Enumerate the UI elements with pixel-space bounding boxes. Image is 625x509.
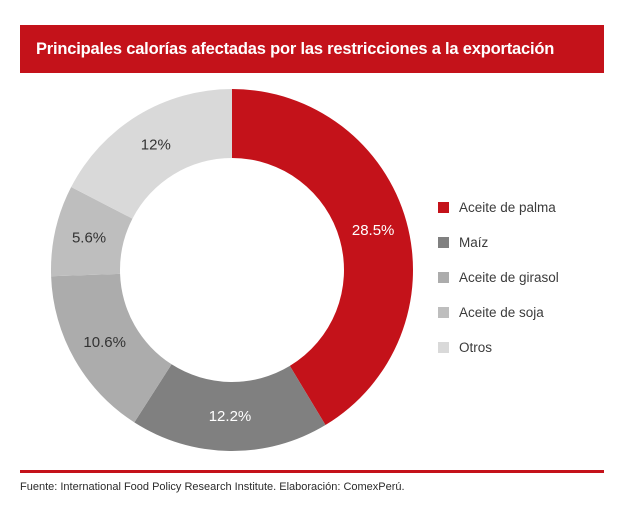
donut-slice-label: 28.5% <box>352 222 395 239</box>
legend: Aceite de palma Maíz Aceite de girasol A… <box>438 190 618 365</box>
donut-slice-label: 10.6% <box>83 334 126 351</box>
legend-swatch-icon <box>438 202 449 213</box>
legend-item-label: Aceite de girasol <box>459 270 559 285</box>
donut-slice-label: 5.6% <box>72 229 106 246</box>
donut-slice-label: 12.2% <box>209 408 252 425</box>
donut-chart-svg: 28.5%12.2%10.6%5.6%12% <box>0 76 430 456</box>
legend-swatch-icon <box>438 272 449 283</box>
donut-slices <box>51 89 413 451</box>
legend-swatch-icon <box>438 307 449 318</box>
legend-item-maiz[interactable]: Maíz <box>438 225 618 260</box>
donut-slice-label: 12% <box>141 136 171 153</box>
legend-swatch-icon <box>438 237 449 248</box>
donut-chart: 28.5%12.2%10.6%5.6%12% <box>0 76 430 456</box>
page-title: Principales calorías afectadas por las r… <box>20 40 554 59</box>
legend-item-aceite-de-palma[interactable]: Aceite de palma <box>438 190 618 225</box>
legend-swatch-icon <box>438 342 449 353</box>
footer-divider <box>20 470 604 473</box>
legend-item-label: Maíz <box>459 235 488 250</box>
source-note: Fuente: International Food Policy Resear… <box>20 481 405 493</box>
legend-item-aceite-de-girasol[interactable]: Aceite de girasol <box>438 260 618 295</box>
legend-item-label: Otros <box>459 340 492 355</box>
chart-page: Principales calorías afectadas por las r… <box>0 0 625 509</box>
legend-item-aceite-de-soja[interactable]: Aceite de soja <box>438 295 618 330</box>
donut-slice[interactable] <box>232 89 413 425</box>
title-banner: Principales calorías afectadas por las r… <box>20 25 604 73</box>
legend-item-otros[interactable]: Otros <box>438 330 618 365</box>
legend-item-label: Aceite de soja <box>459 305 544 320</box>
donut-slice[interactable] <box>71 89 232 219</box>
legend-item-label: Aceite de palma <box>459 200 556 215</box>
